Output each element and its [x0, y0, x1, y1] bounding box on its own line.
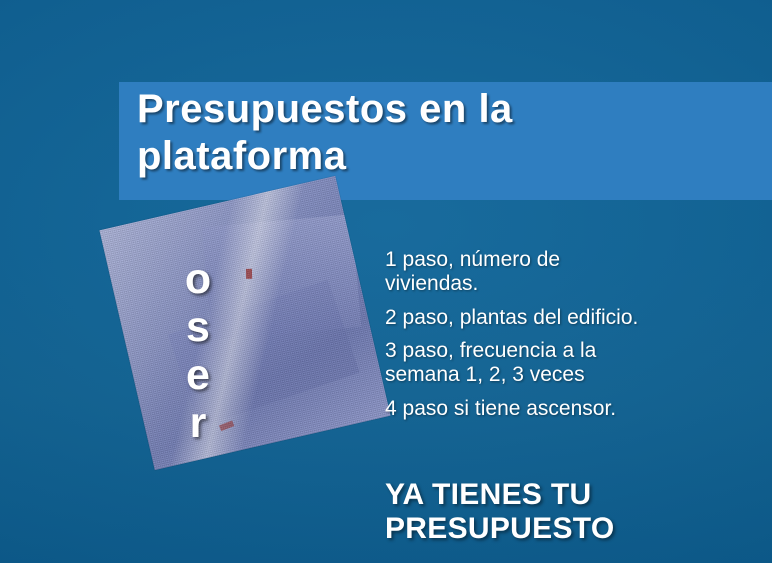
vertical-letter-1: o — [168, 255, 228, 303]
vertical-letter-2: s — [168, 303, 228, 351]
rotated-photo — [112, 172, 377, 502]
list-item: 1 paso, número de viviendas. — [385, 248, 770, 297]
list-item: 4 paso si tiene ascensor. — [385, 397, 770, 421]
photo-image — [99, 176, 390, 470]
vertical-letter-3: e — [168, 351, 228, 399]
list-item: 2 paso, plantas del edificio. — [385, 306, 770, 330]
closing-statement: YA TIENES TU PRESUPUESTO — [385, 478, 772, 546]
list-item: 3 paso, frecuencia a la semana 1, 2, 3 v… — [385, 339, 770, 388]
photo-texture-overlay — [99, 176, 390, 470]
slide-title: Presupuestos en la plataforma — [137, 86, 757, 180]
vertical-word: o s e r — [168, 255, 228, 448]
vertical-letter-4: r — [168, 399, 228, 447]
steps-list: 1 paso, número de viviendas. 2 paso, pla… — [385, 248, 770, 430]
presentation-slide: Presupuestos en la plataforma o s e r 1 … — [0, 0, 772, 563]
